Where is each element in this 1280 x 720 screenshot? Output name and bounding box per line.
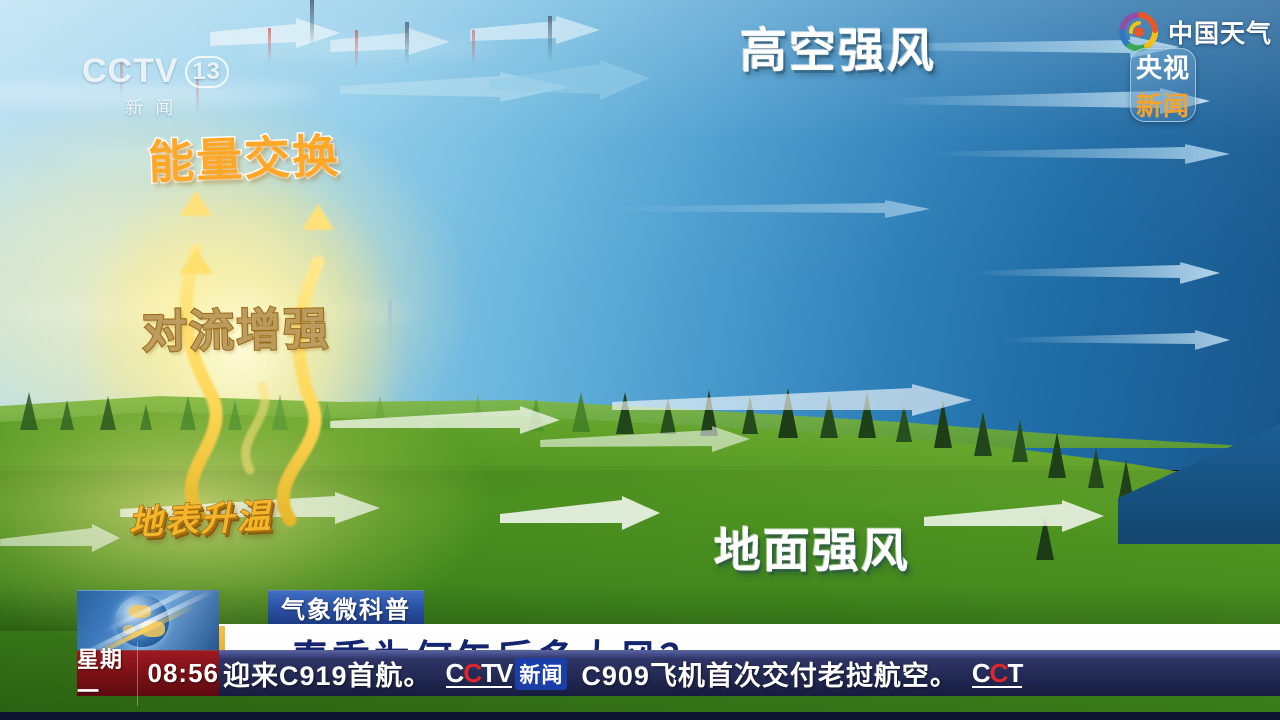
- wind-tick-marker: [548, 16, 552, 62]
- ticker-item: 迎来C919首航。: [223, 654, 432, 693]
- cctv-news-line2: 新闻: [1136, 86, 1190, 123]
- china-weather-label: 中国天气: [1168, 14, 1272, 50]
- ticker-logo-cctv-2: CCT: [972, 660, 1022, 688]
- cctv-news-app-logo: 央视 新闻: [1130, 48, 1196, 122]
- channel-bug-number: 13: [185, 56, 229, 88]
- weekday-label: 星期一: [77, 642, 138, 706]
- kicker-tag: 气象微科普: [268, 590, 424, 624]
- wind-tick-marker: [355, 30, 358, 70]
- channel-bug-row: CCTV 13: [82, 52, 229, 91]
- wind-tick-marker: [310, 0, 314, 46]
- wind-tick-marker: [405, 22, 409, 64]
- tv-broadcast-frame: 高空强风 能量交换 对流增强 地表升温 地面强风 CCTV 13 新闻 中国天气…: [0, 0, 1280, 720]
- cctv-news-line1: 央视: [1136, 48, 1190, 85]
- channel-bug: CCTV 13 新闻: [82, 52, 229, 120]
- channel-bug-name: CCTV: [82, 52, 179, 91]
- channel-bug-sub: 新闻: [82, 94, 229, 120]
- lower-third: 气象微科普 春季为何午后多大风？ 星期一 08:56 迎来C919首航。 CCT…: [0, 590, 1280, 720]
- news-ticker: 迎来C919首航。 CCTV 新闻 C909飞机首次交付老挝航空。 CCT: [219, 650, 1280, 696]
- label-upper-wind: 高空强风: [740, 12, 936, 81]
- kicker-label: 气象微科普: [281, 590, 411, 625]
- bottom-edge: [0, 712, 1280, 720]
- label-convection-enhanced: 对流增强: [141, 292, 330, 360]
- label-surface-wind: 地面强风: [714, 512, 910, 581]
- wind-tick-marker: [268, 28, 271, 62]
- label-surface-warming: 地表升温: [127, 488, 273, 544]
- label-energy-exchange: 能量交换: [147, 120, 341, 193]
- clock-box: 星期一 08:56: [77, 650, 219, 696]
- wind-tick-marker: [388, 300, 392, 360]
- clock-time: 08:56: [138, 658, 220, 689]
- ticker-logo-cctv: CCTV: [446, 660, 513, 688]
- ticker-logo-news: 新闻: [515, 658, 567, 690]
- wind-tick-marker: [472, 30, 475, 66]
- ticker-item: C909飞机首次交付老挝航空。: [581, 654, 958, 693]
- ticker-cctv-news-logo: CCTV 新闻: [446, 658, 568, 690]
- ticker-cctv-news-logo-2: CCT: [972, 660, 1022, 688]
